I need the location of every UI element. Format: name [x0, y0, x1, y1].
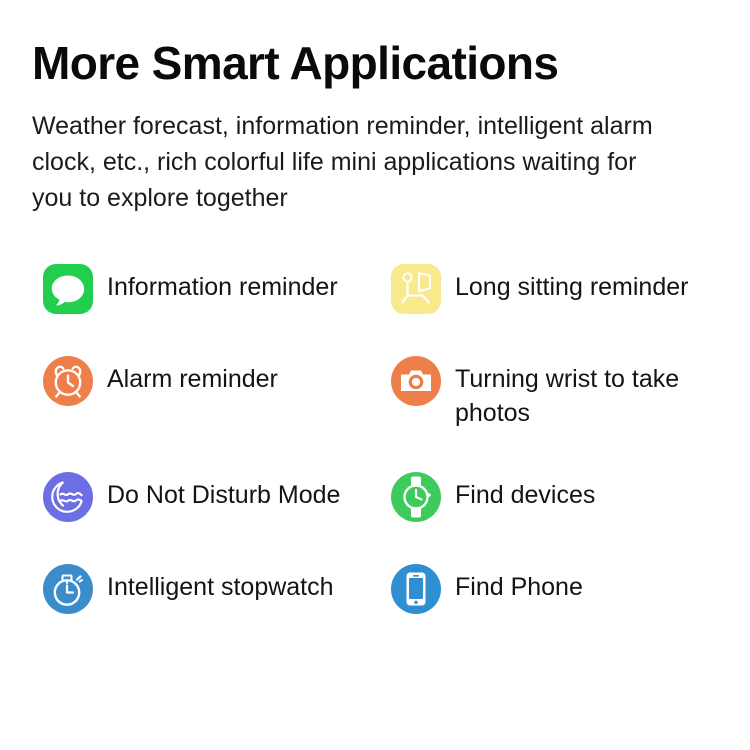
message-bubble-icon — [43, 264, 93, 314]
stopwatch-icon — [43, 564, 93, 614]
feature-item-find-devices[interactable]: Find devices — [391, 472, 718, 522]
feature-label: Intelligent stopwatch — [107, 564, 334, 604]
wristwatch-icon — [391, 472, 441, 522]
crescent-moon-icon — [43, 472, 93, 522]
camera-icon — [391, 356, 441, 406]
smartphone-icon — [391, 564, 441, 614]
feature-item-long-sitting-reminder[interactable]: Long sitting reminder — [391, 264, 718, 314]
page-title: More Smart Applications — [32, 0, 718, 90]
feature-item-turning-wrist-to-take-photos[interactable]: Turning wrist to take photos — [391, 356, 718, 430]
smart-applications-page: More Smart Applications Weather forecast… — [0, 0, 750, 750]
feature-item-find-phone[interactable]: Find Phone — [391, 564, 718, 614]
alarm-clock-icon — [43, 356, 93, 406]
feature-grid: Information reminder Long sitting remind… — [32, 264, 718, 614]
feature-item-intelligent-stopwatch[interactable]: Intelligent stopwatch — [43, 564, 391, 614]
feature-label: Information reminder — [107, 264, 338, 304]
feature-label: Long sitting reminder — [455, 264, 688, 304]
feature-label: Do Not Disturb Mode — [107, 472, 340, 512]
feature-label: Turning wrist to take photos — [455, 356, 718, 430]
feature-label: Alarm reminder — [107, 356, 278, 396]
feature-item-alarm-reminder[interactable]: Alarm reminder — [43, 356, 391, 430]
feature-label: Find devices — [455, 472, 595, 512]
page-subtitle: Weather forecast, information reminder, … — [32, 90, 672, 216]
feature-label: Find Phone — [455, 564, 583, 604]
sitting-person-icon — [391, 264, 441, 314]
feature-item-do-not-disturb-mode[interactable]: Do Not Disturb Mode — [43, 472, 391, 522]
feature-item-information-reminder[interactable]: Information reminder — [43, 264, 391, 314]
